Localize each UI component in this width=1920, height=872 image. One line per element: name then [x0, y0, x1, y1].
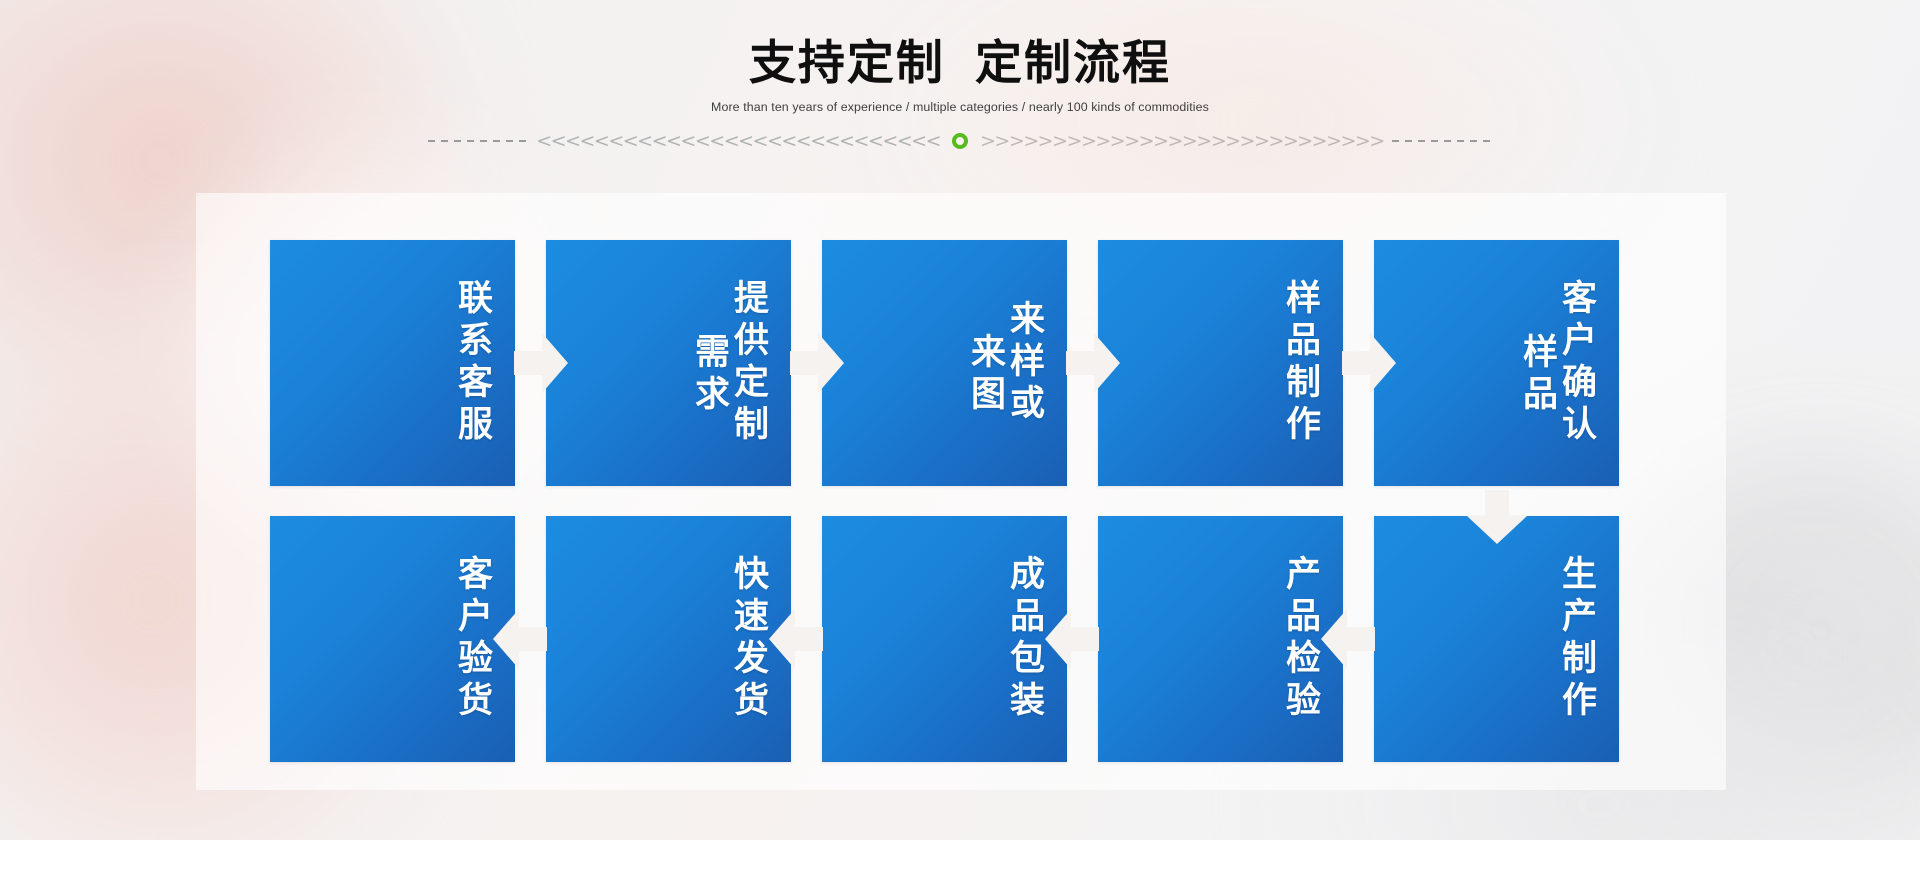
flow-step-7[interactable]: 产品检验 [1098, 516, 1343, 762]
step-primary-text: 提供定制 [730, 279, 765, 447]
step-label: 产品检验 [1282, 516, 1317, 762]
step-primary-text: 来样或 [1006, 300, 1041, 426]
flow-row-top: 联系客服 需求 提供定制 [270, 240, 1650, 486]
page-subtitle: More than ten years of experience / mult… [0, 100, 1920, 114]
green-ring-icon [952, 133, 968, 149]
flow-step-2[interactable]: 需求 提供定制 [546, 240, 791, 486]
step-primary-text: 成品包装 [1006, 555, 1041, 723]
dashed-line-right [1392, 140, 1492, 142]
step-label: 生产制作 [1558, 516, 1593, 762]
step-label: 来图 来样或 [967, 240, 1041, 486]
flow-row-bottom: 客户验货 快速发货 [270, 516, 1650, 762]
flow-step-9[interactable]: 快速发货 [546, 516, 791, 762]
bottom-strip [0, 840, 1920, 872]
step-primary-text: 客户验货 [454, 555, 489, 723]
step-label: 快速发货 [730, 516, 765, 762]
page-stage: 支持定制 定制流程 More than ten years of experie… [0, 0, 1920, 872]
chevron-right-run: >>>>>>>>>>>>>>>>>>>>>>>>>>>> [980, 132, 1384, 151]
flow-step-8[interactable]: 成品包装 [822, 516, 1067, 762]
flow-step-6[interactable]: 生产制作 [1374, 516, 1619, 762]
chevron-left-run: <<<<<<<<<<<<<<<<<<<<<<<<<<<< [536, 132, 940, 151]
flow-step-1[interactable]: 联系客服 [270, 240, 515, 486]
flow-step-5[interactable]: 样品 客户确认 [1374, 240, 1619, 486]
step-secondary-text: 样品 [1519, 333, 1554, 417]
decorative-divider: <<<<<<<<<<<<<<<<<<<<<<<<<<<< >>>>>>>>>>>… [0, 130, 1920, 152]
flow-step-10[interactable]: 客户验货 [270, 516, 515, 762]
page-title: 支持定制 定制流程 [0, 36, 1920, 91]
step-primary-text: 样品制作 [1282, 279, 1317, 447]
step-label: 需求 提供定制 [691, 240, 765, 486]
step-primary-text: 客户确认 [1558, 279, 1593, 447]
step-secondary-text: 需求 [691, 333, 726, 417]
flow-step-4[interactable]: 样品制作 [1098, 240, 1343, 486]
step-label: 样品 客户确认 [1519, 240, 1593, 486]
step-primary-text: 联系客服 [454, 279, 489, 447]
dashed-line-left [428, 140, 528, 142]
step-primary-text: 生产制作 [1558, 555, 1593, 723]
step-label: 客户验货 [454, 516, 489, 762]
step-label: 联系客服 [454, 240, 489, 486]
process-flow-diagram: 联系客服 需求 提供定制 [270, 240, 1650, 762]
step-label: 成品包装 [1006, 516, 1041, 762]
step-secondary-text: 来图 [967, 333, 1002, 417]
flow-step-3[interactable]: 来图 来样或 [822, 240, 1067, 486]
section-header: 支持定制 定制流程 More than ten years of experie… [0, 36, 1920, 114]
step-label: 样品制作 [1282, 240, 1317, 486]
step-primary-text: 产品检验 [1282, 555, 1317, 723]
step-primary-text: 快速发货 [730, 555, 765, 723]
